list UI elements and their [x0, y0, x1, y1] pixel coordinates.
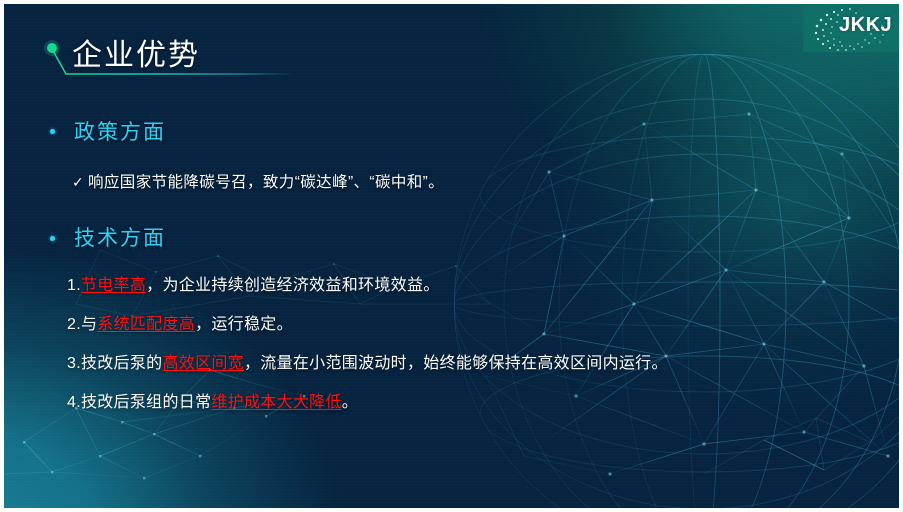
tech-item-2-post: ，运行稳定。: [195, 316, 293, 333]
tech-item-2-pre: 与: [81, 316, 97, 333]
tech-item-3-pre: 技改后泵的: [81, 355, 163, 372]
section-heading-policy: 政策方面: [74, 116, 166, 146]
tech-item-4-post: 。: [342, 394, 358, 411]
tech-item-1-number: 1.: [67, 277, 81, 294]
policy-bullet-item: ✓响应国家节能降碳号召，致力“碳达峰”、“碳中和”。: [72, 170, 444, 192]
tech-item-1-highlight: 节电率高: [81, 277, 146, 294]
check-icon: ✓: [72, 174, 88, 191]
section-bullet-technology: [50, 236, 55, 241]
tech-item-3: 3.技改后泵的高效区间宽，流量在小范围波动时，始终能够保持在高效区间内运行。: [67, 349, 668, 373]
presentation-slide: JKKJ 企业优势 政策方面 ✓响应国家节能降碳号召，致力“碳达峰”、“碳中和”…: [4, 4, 899, 508]
tech-item-2: 2.与系统匹配度高，运行稳定。: [67, 310, 293, 334]
tech-item-3-number: 3.: [67, 355, 81, 372]
tech-item-3-highlight: 高效区间宽: [162, 355, 244, 372]
tech-item-2-number: 2.: [67, 316, 81, 333]
tech-item-4-highlight: 维护成本大大降低: [211, 394, 341, 411]
policy-bullet-text: 响应国家节能降碳号召，致力“碳达峰”、“碳中和”。: [88, 174, 444, 191]
tech-item-2-highlight: 系统匹配度高: [97, 316, 195, 333]
tech-item-1: 1.节电率高，为企业持续创造经济效益和环境效益。: [67, 271, 440, 295]
tech-item-4: 4.技改后泵组的日常维护成本大大降低。: [67, 388, 358, 412]
tech-item-4-number: 4.: [67, 394, 81, 411]
section-bullet-policy: [50, 129, 55, 134]
tech-item-1-post: ，为企业持续创造经济效益和环境效益。: [146, 277, 439, 294]
slide-content: 政策方面 ✓响应国家节能降碳号召，致力“碳达峰”、“碳中和”。 技术方面 1.节…: [4, 4, 899, 508]
tech-item-4-pre: 技改后泵组的日常: [81, 394, 211, 411]
section-heading-technology: 技术方面: [74, 222, 166, 252]
tech-item-3-post: ，流量在小范围波动时，始终能够保持在高效区间内运行。: [244, 355, 668, 372]
